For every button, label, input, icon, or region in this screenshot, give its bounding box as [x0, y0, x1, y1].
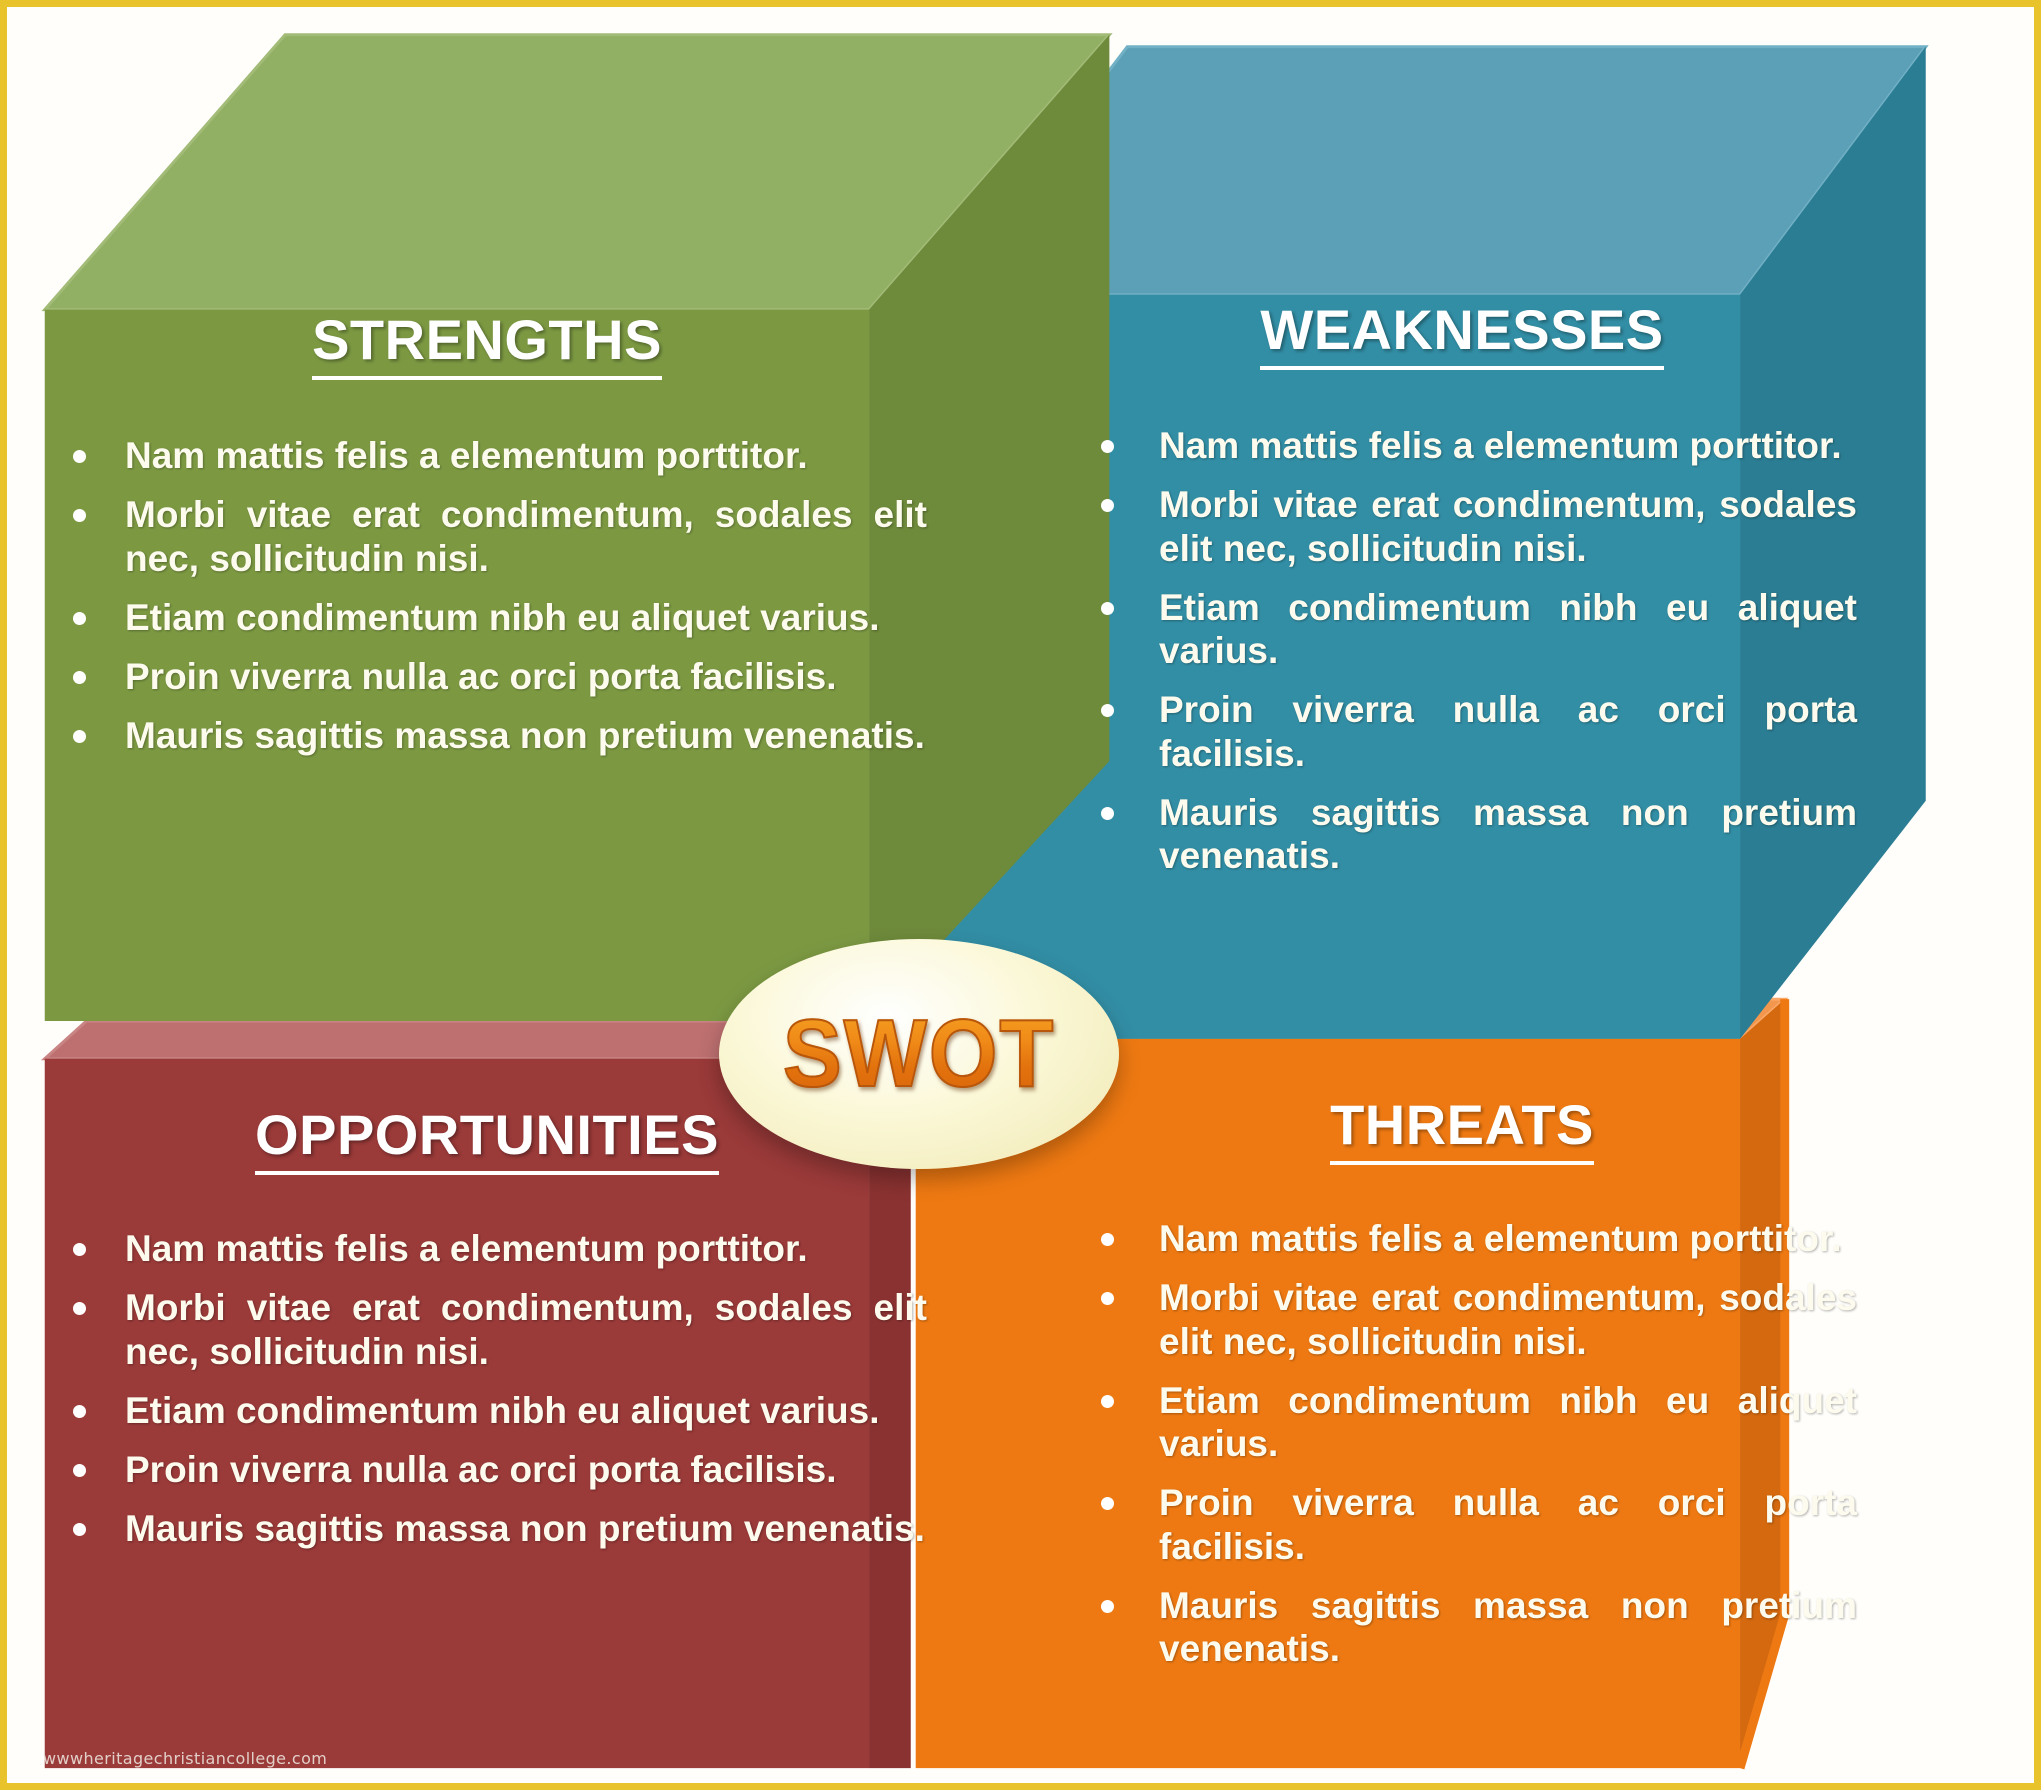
- list-item: Mauris sagittis massa non pretium venena…: [1067, 791, 1857, 878]
- list-item: Mauris sagittis massa non pretium venena…: [47, 1507, 927, 1550]
- list-item: Proin viverra nulla ac orci porta facili…: [47, 1448, 927, 1491]
- list-item: Morbi vitae erat condimentum, sodales el…: [1067, 483, 1857, 570]
- swot-center-badge[interactable]: SWOT: [719, 939, 1119, 1169]
- threats-title-wrap: THREATS: [1067, 1092, 1857, 1165]
- quadrant-opportunities[interactable]: OPPORTUNITIES Nam mattis felis a element…: [47, 1102, 927, 1567]
- list-item: Proin viverra nulla ac orci porta facili…: [1067, 1481, 1857, 1568]
- strengths-bullet-list: Nam mattis felis a elementum porttitor. …: [47, 434, 927, 758]
- list-item: Morbi vitae erat condimentum, sodales el…: [1067, 1276, 1857, 1363]
- threats-title: THREATS: [1330, 1092, 1594, 1165]
- strengths-title-wrap: STRENGTHS: [47, 307, 927, 380]
- list-item: Nam mattis felis a elementum porttitor.: [1067, 1217, 1857, 1260]
- list-item: Etiam condimentum nibh eu aliquet varius…: [47, 1389, 927, 1432]
- weaknesses-title-wrap: WEAKNESSES: [1067, 297, 1857, 370]
- weaknesses-bullet-list: Nam mattis felis a elementum porttitor. …: [1067, 424, 1857, 878]
- watermark-text: wwwheritagechristiancollege.com: [43, 1749, 327, 1768]
- quadrant-strengths[interactable]: STRENGTHS Nam mattis felis a elementum p…: [47, 307, 927, 774]
- list-item: Etiam condimentum nibh eu aliquet varius…: [47, 596, 927, 639]
- list-item: Mauris sagittis massa non pretium venena…: [1067, 1584, 1857, 1671]
- opportunities-title: OPPORTUNITIES: [255, 1102, 719, 1175]
- opportunities-bullet-list: Nam mattis felis a elementum porttitor. …: [47, 1227, 927, 1551]
- list-item: Morbi vitae erat condimentum, sodales el…: [47, 1286, 927, 1373]
- quadrant-threats[interactable]: THREATS Nam mattis felis a elementum por…: [1067, 1092, 1857, 1687]
- threats-bullet-list: Nam mattis felis a elementum porttitor. …: [1067, 1217, 1857, 1671]
- swot-diagram: STRENGTHS Nam mattis felis a elementum p…: [0, 0, 2041, 1790]
- list-item: Etiam condimentum nibh eu aliquet varius…: [1067, 1379, 1857, 1466]
- list-item: Mauris sagittis massa non pretium venena…: [47, 714, 927, 757]
- list-item: Morbi vitae erat condimentum, sodales el…: [47, 493, 927, 580]
- list-item: Proin viverra nulla ac orci porta facili…: [1067, 688, 1857, 775]
- list-item: Nam mattis felis a elementum porttitor.: [1067, 424, 1857, 467]
- list-item: Etiam condimentum nibh eu aliquet varius…: [1067, 586, 1857, 673]
- list-item: Nam mattis felis a elementum porttitor.: [47, 1227, 927, 1270]
- weaknesses-title: WEAKNESSES: [1260, 297, 1663, 370]
- swot-center-label: SWOT: [783, 999, 1055, 1109]
- list-item: Proin viverra nulla ac orci porta facili…: [47, 655, 927, 698]
- quadrant-weaknesses[interactable]: WEAKNESSES Nam mattis felis a elementum …: [1067, 297, 1857, 894]
- list-item: Nam mattis felis a elementum porttitor.: [47, 434, 927, 477]
- strengths-title: STRENGTHS: [312, 307, 662, 380]
